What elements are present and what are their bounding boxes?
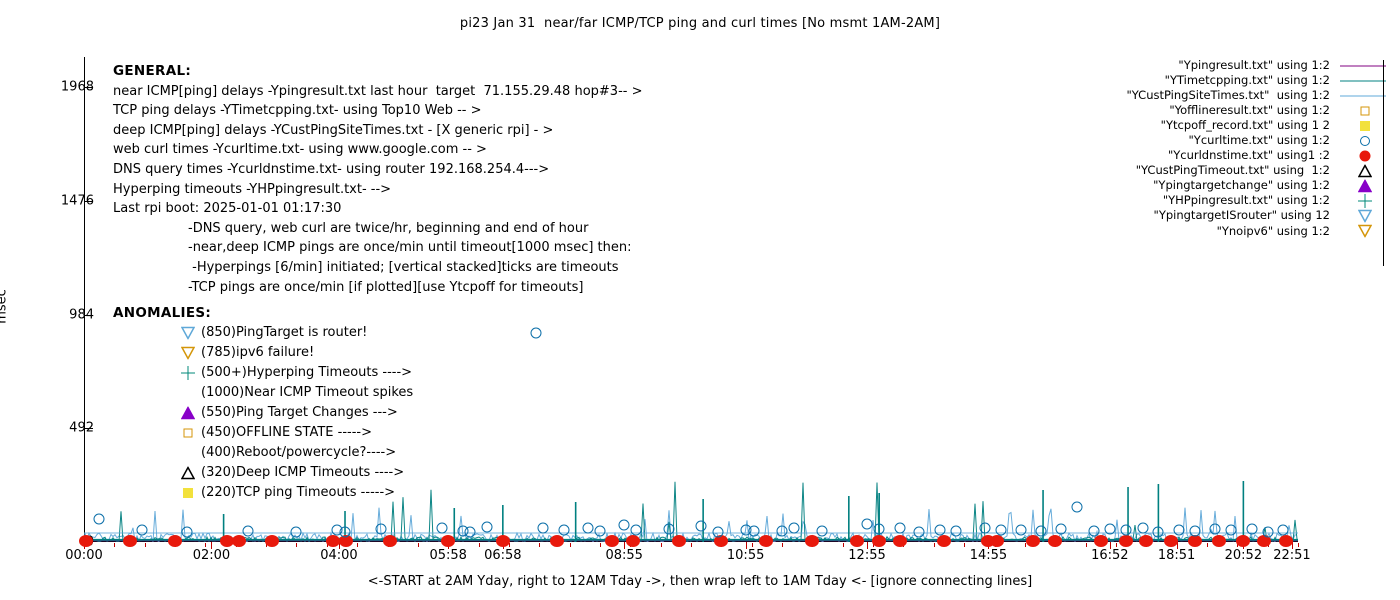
general-heading: GENERAL:	[113, 62, 642, 82]
legend-label: "Ycurldnstime.txt" using1 :2	[1168, 148, 1330, 163]
x-tick-label: 10:55	[727, 548, 764, 563]
curltime-marker	[777, 526, 788, 537]
curltime-marker	[93, 513, 104, 524]
general-note: -Hyperpings [6/min] initiated; [vertical…	[113, 258, 642, 278]
x-minor-tick	[205, 543, 206, 547]
curltime-marker	[582, 523, 593, 534]
curltime-marker	[530, 327, 541, 338]
anomaly-item: (500+)Hyperping Timeouts ---->	[113, 363, 413, 383]
curltime-marker	[874, 524, 885, 535]
dnstime-marker	[1094, 535, 1108, 547]
legend-divider	[1383, 60, 1384, 266]
general-note: -near,deep ICMP pings are once/min until…	[113, 238, 642, 258]
anomaly-item: (320)Deep ICMP Timeouts ---->	[113, 463, 413, 483]
dnstime-marker	[1119, 535, 1133, 547]
legend-item: "YpingtargetISrouter" using 12	[1000, 208, 1396, 223]
curltime-marker	[482, 521, 493, 532]
x-minor-tick	[114, 543, 115, 547]
anomalies-block: ANOMALIES: (850)PingTarget is router!(78…	[113, 303, 413, 503]
triangle-up-filled-icon	[175, 403, 201, 423]
curltime-marker	[594, 525, 605, 536]
triangle-down-open-icon	[1334, 208, 1396, 223]
curltime-marker	[1072, 501, 1083, 512]
x-tick-label: 14:55	[970, 548, 1007, 563]
curltime-marker	[291, 526, 302, 537]
curltime-marker	[712, 526, 723, 537]
dnstime-marker	[759, 535, 773, 547]
legend-label: "Ypingtargetchange" using 1:2	[1153, 178, 1330, 193]
curltime-marker	[979, 522, 990, 533]
general-line: TCP ping delays -YTimetcpping.txt- using…	[113, 101, 642, 121]
anomaly-label: (320)Deep ICMP Timeouts ---->	[201, 463, 404, 483]
x-tick-mark	[624, 542, 625, 549]
anomaly-item: (785)ipv6 failure!	[113, 343, 413, 363]
dnstime-marker	[265, 535, 279, 547]
curltime-marker	[664, 524, 675, 535]
general-line: deep ICMP[ping] delays -YCustPingSiteTim…	[113, 121, 642, 141]
curltime-marker	[1278, 524, 1289, 535]
general-notes: -DNS query, web curl are twice/hr, begin…	[113, 219, 642, 297]
legend-label: "Ytcpoff_record.txt" using 1 2	[1161, 118, 1330, 133]
legend-label: "YpingtargetISrouter" using 12	[1154, 208, 1330, 223]
curltime-marker	[1104, 524, 1115, 535]
square-filled-icon	[175, 483, 201, 503]
curltime-marker	[894, 523, 905, 534]
curltime-marker	[1056, 523, 1067, 534]
square-open-icon	[1334, 103, 1396, 118]
curltime-marker	[950, 526, 961, 537]
x-tick-label: 05:58	[429, 548, 466, 563]
dnstime-marker	[123, 535, 137, 547]
x-tick-label: 08:55	[605, 548, 642, 563]
circle-open-icon	[1334, 133, 1396, 148]
general-line: Hyperping timeouts -YHPpingresult.txt- -…	[113, 180, 642, 200]
curltime-marker	[1035, 526, 1046, 537]
legend-label: "Ycurltime.txt" using 1:2	[1189, 133, 1330, 148]
x-tick-label: 02:00	[193, 548, 230, 563]
anomaly-label: (1000)Near ICMP Timeout spikes	[201, 383, 413, 403]
curltime-marker	[1120, 525, 1131, 536]
general-note: -TCP pings are once/min [if plotted][use…	[113, 278, 642, 298]
x-minor-tick	[145, 543, 146, 547]
x-minor-tick	[600, 543, 601, 547]
anomaly-item: (550)Ping Target Changes --->	[113, 403, 413, 423]
square-open-icon	[175, 423, 201, 443]
x-minor-tick	[1116, 543, 1117, 547]
anomaly-label: (550)Ping Target Changes --->	[201, 403, 398, 423]
curltime-marker	[182, 526, 193, 537]
x-minor-tick	[418, 543, 419, 547]
x-axis-caption: <-START at 2AM Yday, right to 12AM Tday …	[0, 574, 1400, 589]
x-tick-mark	[746, 542, 747, 549]
dnstime-marker	[383, 535, 397, 547]
no-symbol	[175, 443, 201, 463]
dnstime-marker	[1279, 535, 1293, 547]
curltime-marker	[914, 526, 925, 537]
dnstime-marker	[872, 535, 886, 547]
x-tick-mark	[867, 542, 868, 549]
triangle-up-filled-icon	[1334, 178, 1396, 193]
x-minor-tick	[1086, 543, 1087, 547]
curltime-marker	[1210, 523, 1221, 534]
x-minor-tick	[296, 543, 297, 547]
curltime-marker	[137, 524, 148, 535]
curltime-marker	[789, 522, 800, 533]
legend-item: "YTimetcpping.txt" using 1:2	[1000, 73, 1396, 88]
x-minor-tick	[1298, 543, 1299, 547]
no-symbol	[175, 383, 201, 403]
x-minor-tick	[570, 543, 571, 547]
y-axis-label: msec	[0, 289, 10, 324]
x-minor-tick	[479, 543, 480, 547]
general-info-block: GENERAL: near ICMP[ping] delays -Ypingre…	[113, 62, 642, 297]
legend: "Ypingresult.txt" using 1:2"YTimetcpping…	[1000, 58, 1396, 239]
general-note: -DNS query, web curl are twice/hr, begin…	[113, 219, 642, 239]
legend-item: "Ynoipv6" using 1:2	[1000, 224, 1396, 239]
legend-label: "YCustPingSiteTimes.txt" using 1:2	[1127, 88, 1331, 103]
curltime-marker	[558, 525, 569, 536]
page-title: pi23 Jan 31 near/far ICMP/TCP ping and c…	[0, 16, 1400, 31]
circle-filled-icon	[1334, 148, 1396, 163]
general-lines: near ICMP[ping] delays -Ypingresult.txt …	[113, 82, 642, 219]
dnstime-marker	[893, 535, 907, 547]
x-minor-tick	[691, 543, 692, 547]
plus-icon	[1334, 193, 1396, 208]
x-tick-label: 16:52	[1091, 548, 1128, 563]
anomaly-item: (220)TCP ping Timeouts ----->	[113, 483, 413, 503]
x-minor-tick	[752, 543, 753, 547]
legend-label: "YTimetcpping.txt" using 1:2	[1165, 73, 1330, 88]
dnstime-marker	[672, 535, 686, 547]
dnstime-marker	[232, 535, 246, 547]
legend-label: "Yofflineresult.txt" using 1:2	[1169, 103, 1330, 118]
dnstime-marker	[1026, 535, 1040, 547]
curltime-marker	[934, 524, 945, 535]
dnstime-marker	[937, 535, 951, 547]
anomaly-label: (400)Reboot/powercycle?---->	[201, 443, 396, 463]
anomaly-label: (850)PingTarget is router!	[201, 323, 367, 343]
legend-item: "Yofflineresult.txt" using 1:2	[1000, 103, 1396, 118]
dnstime-marker	[326, 535, 340, 547]
dnstime-marker	[168, 535, 182, 547]
anomaly-item: (1000)Near ICMP Timeout spikes	[113, 383, 413, 403]
plus-icon	[175, 363, 201, 383]
dnstime-marker	[441, 535, 455, 547]
triangle-up-open-icon	[1334, 163, 1396, 178]
dnstime-marker	[805, 535, 819, 547]
legend-item: "YCustPingSiteTimes.txt" using 1:2	[1000, 88, 1396, 103]
dnstime-marker	[1164, 535, 1178, 547]
curltime-marker	[862, 518, 873, 529]
x-minor-tick	[539, 543, 540, 547]
triangle-up-open-icon	[175, 463, 201, 483]
x-minor-tick	[357, 543, 358, 547]
x-minor-tick	[782, 543, 783, 547]
dnstime-marker	[550, 535, 564, 547]
curltime-marker	[437, 523, 448, 534]
x-tick-label: 00:00	[65, 548, 102, 563]
x-minor-tick	[964, 543, 965, 547]
chart-root: pi23 Jan 31 near/far ICMP/TCP ping and c…	[0, 0, 1400, 600]
dnstime-marker	[1139, 535, 1153, 547]
legend-item: "YCustPingTimeout.txt" using 1:2	[1000, 163, 1396, 178]
curltime-marker	[695, 520, 706, 531]
x-minor-tick	[934, 543, 935, 547]
y-tick-mark	[84, 87, 93, 88]
curltime-marker	[1089, 525, 1100, 536]
curltime-marker	[619, 519, 630, 530]
x-tick-label: 18:51	[1158, 548, 1195, 563]
dnstime-marker	[1048, 535, 1062, 547]
anomalies-heading: ANOMALIES:	[113, 303, 413, 323]
dnstime-marker	[850, 535, 864, 547]
legend-line-swatch	[1334, 88, 1396, 103]
dnstime-marker	[1212, 535, 1226, 547]
legend-label: "YHPpingresult.txt" using 1:2	[1163, 193, 1330, 208]
x-tick-mark	[1110, 542, 1111, 549]
legend-line-swatch	[1334, 58, 1396, 73]
anomaly-item: (400)Reboot/powercycle?---->	[113, 443, 413, 463]
curltime-marker	[1262, 526, 1273, 537]
legend-label: "Ynoipv6" using 1:2	[1217, 224, 1330, 239]
dnstime-marker	[626, 535, 640, 547]
anomaly-label: (785)ipv6 failure!	[201, 343, 314, 363]
legend-item: "Ycurltime.txt" using 1:2	[1000, 133, 1396, 148]
legend-item: "Ypingtargetchange" using 1:2	[1000, 178, 1396, 193]
curltime-marker	[1246, 524, 1257, 535]
curltime-marker	[340, 527, 351, 538]
curltime-marker	[1174, 524, 1185, 535]
general-line: near ICMP[ping] delays -Ypingresult.txt …	[113, 82, 642, 102]
anomaly-item: (850)PingTarget is router!	[113, 323, 413, 343]
dnstime-marker	[1236, 535, 1250, 547]
x-tick-label: 04:00	[320, 548, 357, 563]
anomaly-label: (450)OFFLINE STATE ----->	[201, 423, 372, 443]
anomalies-list: (850)PingTarget is router!(785)ipv6 fail…	[113, 323, 413, 503]
curltime-marker	[465, 527, 476, 538]
curltime-marker	[817, 525, 828, 536]
curltime-marker	[749, 526, 760, 537]
x-minor-tick	[843, 543, 844, 547]
legend-item: "Ypingresult.txt" using 1:2	[1000, 58, 1396, 73]
legend-item: "YHPpingresult.txt" using 1:2	[1000, 193, 1396, 208]
curltime-marker	[1189, 526, 1200, 537]
legend-item: "Ytcpoff_record.txt" using 1 2	[1000, 118, 1396, 133]
general-line: web curl times -Ycurltime.txt- using www…	[113, 140, 642, 160]
x-tick-mark	[211, 542, 212, 549]
curltime-marker	[1153, 526, 1164, 537]
x-minor-tick	[1207, 543, 1208, 547]
triangle-down-open-icon	[1334, 224, 1396, 239]
x-minor-tick	[1025, 543, 1026, 547]
x-minor-tick	[661, 543, 662, 547]
general-line: DNS query times -Ycurldnstime.txt- using…	[113, 160, 642, 180]
x-tick-label: 06:58	[484, 548, 521, 563]
y-tick-mark	[84, 428, 93, 429]
curltime-marker	[995, 525, 1006, 536]
curltime-marker	[242, 525, 253, 536]
legend-item: "Ycurldnstime.txt" using1 :2	[1000, 148, 1396, 163]
triangle-down-open-icon	[175, 323, 201, 343]
x-tick-label: 22:51	[1273, 548, 1310, 563]
curltime-marker	[537, 523, 548, 534]
curltime-marker	[1137, 523, 1148, 534]
anomaly-item: (450)OFFLINE STATE ----->	[113, 423, 413, 443]
y-tick-mark	[84, 315, 93, 316]
curltime-marker	[1016, 524, 1027, 535]
x-tick-label: 12:55	[848, 548, 885, 563]
legend-line-swatch	[1334, 73, 1396, 88]
y-tick-mark	[84, 201, 93, 202]
curltime-marker	[376, 524, 387, 535]
dnstime-marker	[990, 535, 1004, 547]
dnstime-marker	[605, 535, 619, 547]
general-line: Last rpi boot: 2025-01-01 01:17:30	[113, 199, 642, 219]
legend-label: "Ypingresult.txt" using 1:2	[1178, 58, 1330, 73]
legend-label: "YCustPingTimeout.txt" using 1:2	[1136, 163, 1330, 178]
square-filled-icon	[1334, 118, 1396, 133]
x-tick-label: 20:52	[1225, 548, 1262, 563]
curltime-marker	[1226, 525, 1237, 536]
anomaly-label: (500+)Hyperping Timeouts ---->	[201, 363, 412, 383]
triangle-down-open-icon	[175, 343, 201, 363]
dnstime-marker	[79, 535, 93, 547]
curltime-marker	[631, 525, 642, 536]
anomaly-label: (220)TCP ping Timeouts ----->	[201, 483, 395, 503]
dnstime-marker	[496, 535, 510, 547]
